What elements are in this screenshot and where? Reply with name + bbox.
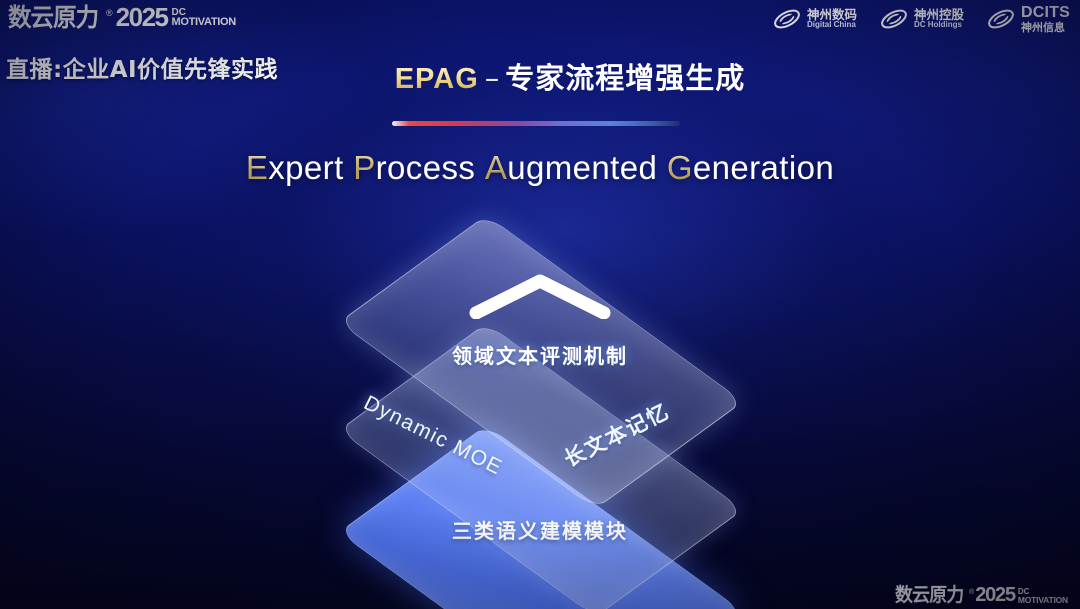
partner-name-en: DC Holdings [914,21,964,29]
partner-name-cn: 神州信息 [1021,22,1070,34]
slide-subtitle: Expert Process Augmented Generation [0,149,1080,187]
swirl-logo-icon [879,4,909,34]
subtitle-rest-generation: eneration [693,149,834,186]
swirl-logo-icon [772,4,802,34]
title-acronym: EPAG [395,63,479,95]
layer-stack-diagram: 领域文本评测机制 Dynamic MOE 长文本记忆 三类语义建模模块 [265,215,815,585]
watermark-cn: 数云原力 [895,586,963,605]
subtitle-cap-a: A [485,149,507,186]
subtitle-rest-augmented: ugmented [507,149,657,186]
slide-title: EPAG–专家流程增强生成 [0,55,1080,97]
brand-registered-mark: ® [106,8,113,18]
partner-logo-dc-holdings: 神州控股 DC Holdings [879,4,964,34]
subtitle-cap-e: E [246,149,268,186]
partner-name-en: DCITS [1021,5,1070,22]
watermark-registered-mark: ® [969,589,974,596]
title-chinese: 专家流程增强生成 [505,61,745,95]
partner-label-group: 神州控股 DC Holdings [914,8,964,30]
chevron-up-icon [468,273,612,319]
diagram-label-bottom: 三类语义建模模块 [265,515,815,544]
title-divider [392,121,680,126]
subtitle-cap-p: P [353,149,375,186]
diagram-label-top: 领域文本评测机制 [265,340,815,369]
partner-logo-digital-china: 神州数码 Digital China [772,4,857,34]
subtitle-cap-g: G [667,149,693,186]
watermark-logo: 数云原力 ® 2025 DC MOTIVATION [895,585,1068,605]
brand-logo: 数云原力 ® 2025 DC MOTIVATION [8,4,236,30]
partner-name-en: Digital China [807,21,857,29]
slide-canvas: 数云原力 ® 2025 DC MOTIVATION 直播:企业AI价值先锋实践 … [0,0,1080,609]
subtitle-rest-expert: xpert [268,149,343,186]
brand-logo-cn: 数云原力 [8,5,98,30]
brand-year: 2025 [116,4,168,30]
watermark-year: 2025 [975,585,1015,605]
title-dash: – [479,61,506,95]
partner-label-group: DCITS 神州信息 [1021,5,1070,33]
brand-dc-motivation: DC MOTIVATION [172,8,236,28]
swirl-logo-icon [986,4,1016,34]
partner-logo-dcits: DCITS 神州信息 [986,4,1070,34]
watermark-dc-motivation: DC MOTIVATION [1018,588,1068,604]
partner-label-group: 神州数码 Digital China [807,8,857,30]
watermark-motivation: MOTIVATION [1018,596,1068,604]
brand-motivation: MOTIVATION [172,17,236,28]
subtitle-rest-process: rocess [376,149,476,186]
partner-logo-group: 神州数码 Digital China 神州控股 DC Holdings [772,4,1070,34]
